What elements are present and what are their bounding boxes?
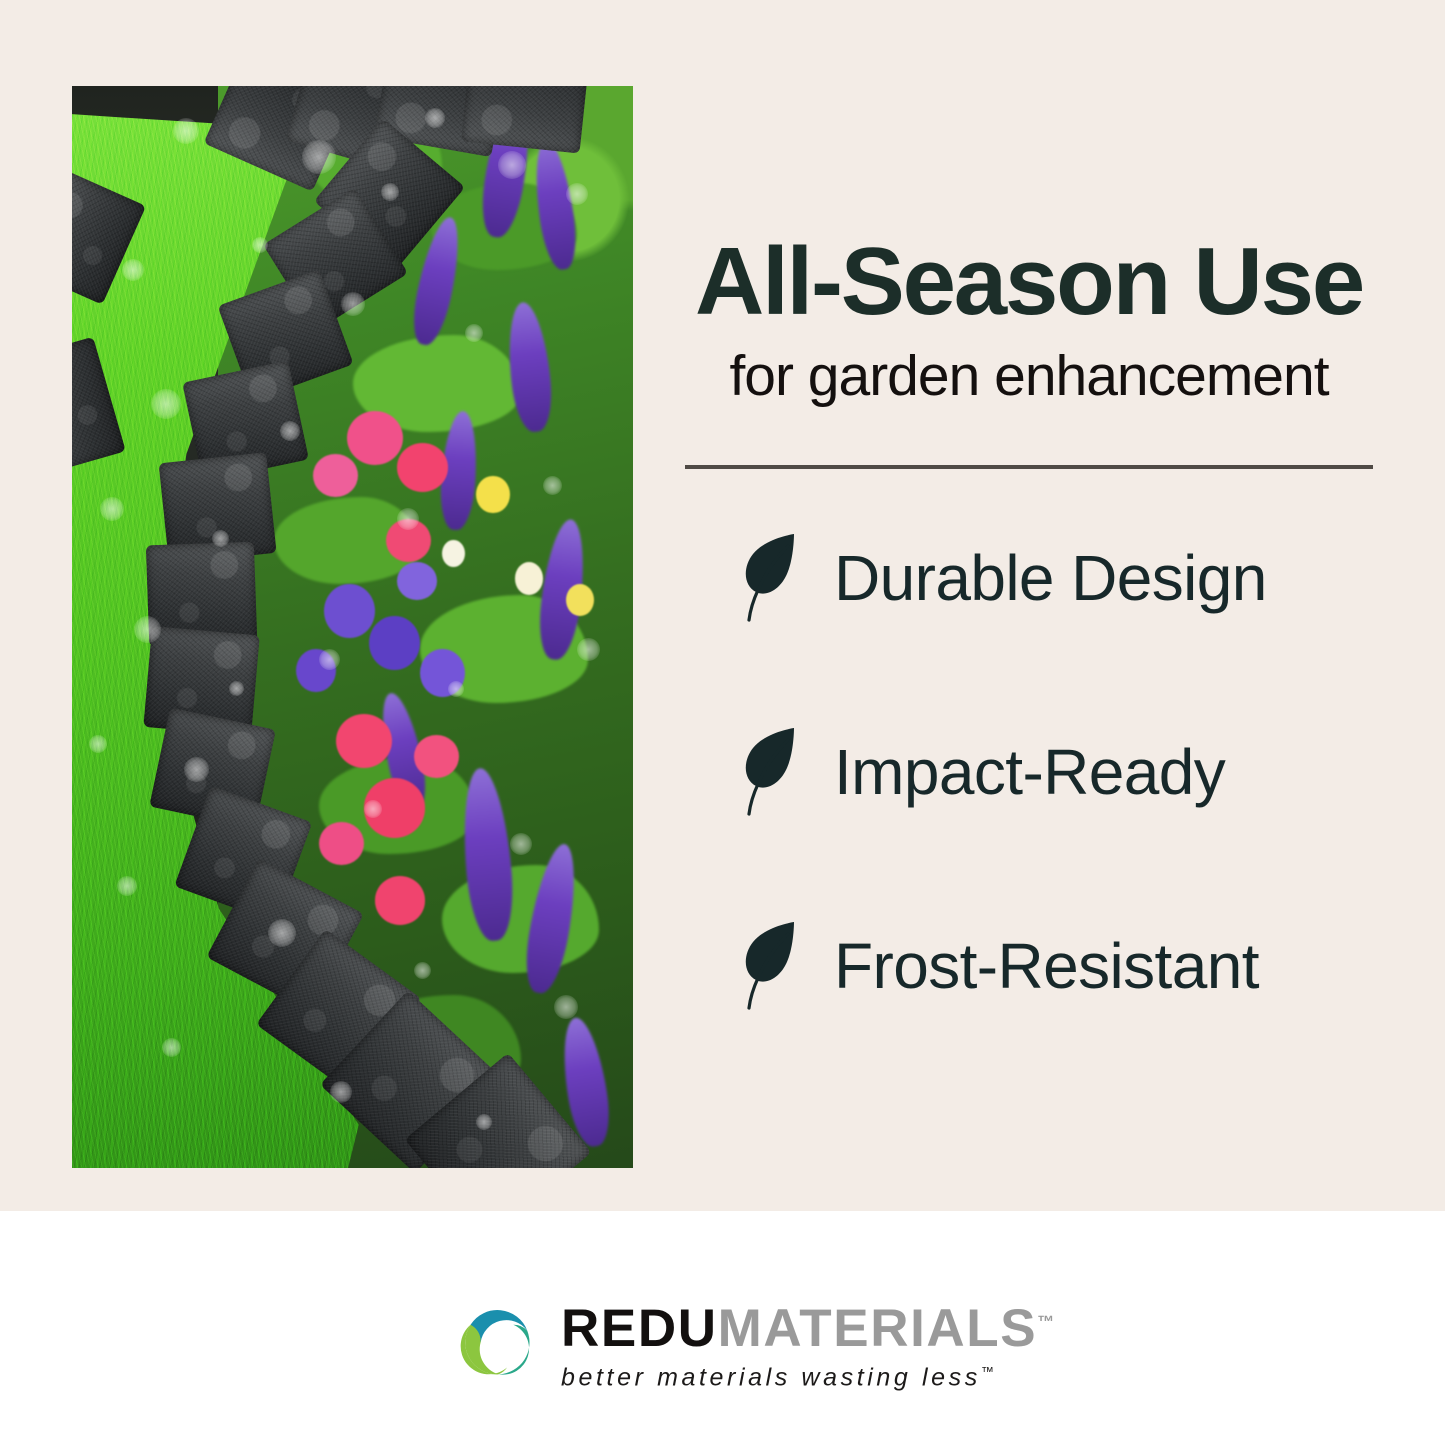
wordmark-materials: MATERIALS	[718, 1299, 1038, 1358]
photo-flower	[369, 616, 419, 670]
photo-flower	[347, 411, 403, 465]
list-item: Durable Design	[736, 524, 1376, 632]
feature-list: Durable Design Impact-Ready Frost-Resist…	[736, 524, 1376, 1020]
brand-tagline: better materials wasting less	[561, 1363, 981, 1391]
photo-flower	[313, 454, 358, 497]
tagline-trademark-symbol: ™	[981, 1364, 994, 1379]
feature-label: Durable Design	[834, 546, 1267, 610]
product-photo	[72, 86, 633, 1168]
photo-flower	[442, 540, 464, 567]
photo-flower	[397, 443, 447, 492]
photo-flower	[336, 714, 392, 768]
page-subtitle: for garden enhancement	[684, 348, 1374, 405]
feature-label: Impact-Ready	[834, 740, 1225, 804]
photo-flower	[420, 649, 465, 698]
section-divider	[685, 465, 1373, 469]
brand-tagline-line: better materials wasting less™	[561, 1365, 1054, 1390]
photo-flower	[397, 562, 436, 600]
list-item: Impact-Ready	[736, 718, 1376, 826]
photo-stage	[72, 86, 633, 1168]
wordmark-line: REDUMATERIALS™	[561, 1302, 1054, 1355]
photo-flower	[515, 562, 543, 594]
product-feature-poster: All-Season Use for garden enhancement Du…	[0, 0, 1445, 1445]
photo-flower	[375, 876, 425, 925]
photo-flower	[386, 519, 431, 562]
page-title: All-Season Use	[684, 234, 1374, 330]
feature-text-column: All-Season Use for garden enhancement Du…	[684, 86, 1374, 1168]
feature-label: Frost-Resistant	[834, 934, 1259, 998]
list-item: Frost-Resistant	[736, 912, 1376, 1020]
trademark-symbol: ™	[1037, 1312, 1054, 1331]
brand-logo: REDUMATERIALS™ better materials wasting …	[455, 1297, 1054, 1390]
wordmark-redu: REDU	[561, 1299, 718, 1358]
photo-flower	[476, 476, 510, 514]
photo-flower	[566, 584, 594, 616]
photo-flower	[296, 649, 335, 692]
leaf-icon	[736, 726, 798, 818]
brand-wordmark: REDUMATERIALS™ better materials wasting …	[561, 1297, 1054, 1390]
photo-flower	[319, 822, 364, 865]
footer-logo-band: REDUMATERIALS™ better materials wasting …	[0, 1211, 1445, 1445]
photo-flower	[364, 778, 426, 838]
leaf-icon	[736, 920, 798, 1012]
leaf-icon	[736, 532, 798, 624]
redu-swirl-circle-icon	[455, 1297, 539, 1381]
photo-flower	[324, 584, 374, 638]
